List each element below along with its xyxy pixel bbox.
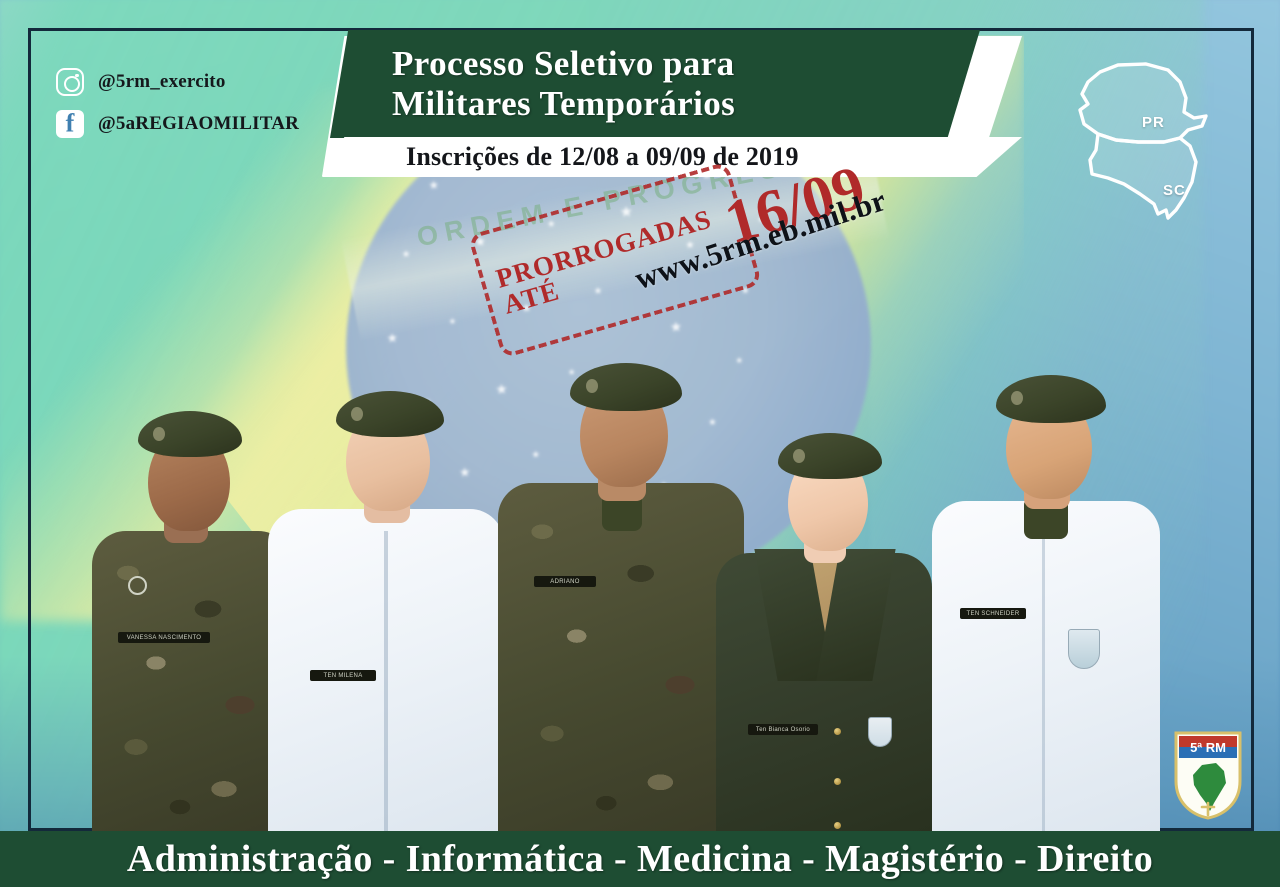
person-1-rank-insignia: [128, 576, 147, 595]
flag-star: ★: [428, 179, 439, 191]
courses-list: Administração - Informática - Medicina -…: [127, 837, 1153, 881]
social-item-instagram[interactable]: @5rm_exercito: [56, 68, 356, 96]
person-1-uniform: [92, 531, 292, 831]
person-1-camouflage: VANESSA NASCIMENTO: [92, 391, 292, 831]
person-1-beret: [138, 411, 242, 457]
header-green-banner: Processo Seletivo para Militares Temporá…: [330, 30, 980, 138]
person-5-button-placket: [1042, 521, 1045, 831]
person-2-white-coat: TEN MILENA: [268, 381, 504, 831]
social-links: @5rm_exercito @5aREGIAOMILITAR: [56, 68, 356, 152]
poster-root: ORDEM E PROGRESSO ★★★★★★★★★★★★★★★★★★★★★★…: [0, 0, 1280, 887]
social-item-facebook[interactable]: @5aREGIAOMILITAR: [56, 110, 356, 138]
person-4-shoulder-patch: [868, 717, 892, 747]
person-5-white-coat: TEN SCHNEIDER: [932, 361, 1160, 831]
map-parana-santacatarina: PR SC: [1060, 42, 1250, 242]
map-label-pr: PR: [1142, 114, 1165, 131]
person-5-beret: [996, 375, 1106, 423]
instagram-icon: [56, 68, 84, 96]
person-4-name-tag: Ten Bianca Osorio: [748, 724, 818, 735]
person-4-button-2: [834, 778, 841, 785]
courses-banner: Administração - Informática - Medicina -…: [0, 831, 1280, 887]
instagram-handle: @5rm_exercito: [98, 71, 226, 93]
person-5-uniform: [932, 501, 1160, 831]
person-1-name-tag: VANESSA NASCIMENTO: [118, 632, 210, 643]
person-5-unit-crest-patch: [1068, 629, 1100, 669]
person-2-beret: [336, 391, 444, 437]
person-4-button-1: [834, 728, 841, 735]
people-group-photo: VANESSA NASCIMENTO TEN MILENA ADRIANO: [0, 271, 1280, 831]
person-3-name-tag: ADRIANO: [534, 576, 596, 587]
5rm-crest-logo: 5ª RM: [1172, 729, 1244, 821]
header-subtitle-banner: Inscrições de 12/08 a 09/09 de 2019: [322, 137, 1022, 177]
person-2-name-tag: TEN MILENA: [310, 670, 376, 681]
page-title-line2: Militares Temporários: [330, 84, 980, 124]
map-label-sc: SC: [1163, 182, 1186, 199]
person-3-beret: [570, 363, 682, 411]
person-3-uniform: [498, 483, 744, 831]
flag-star: ★: [401, 250, 410, 260]
person-3-camouflage: ADRIANO: [498, 349, 744, 831]
page-title-line1: Processo Seletivo para: [330, 44, 980, 84]
facebook-handle: @5aREGIAOMILITAR: [98, 113, 299, 135]
person-4-button-3: [834, 822, 841, 829]
person-2-zipper: [384, 531, 388, 831]
person-5-name-tag: TEN SCHNEIDER: [960, 608, 1026, 619]
person-4-beret: [778, 433, 882, 479]
person-4-green-dress: Ten Bianca Osorio: [716, 421, 932, 831]
facebook-icon: [56, 110, 84, 138]
svg-text:5ª RM: 5ª RM: [1190, 740, 1226, 755]
